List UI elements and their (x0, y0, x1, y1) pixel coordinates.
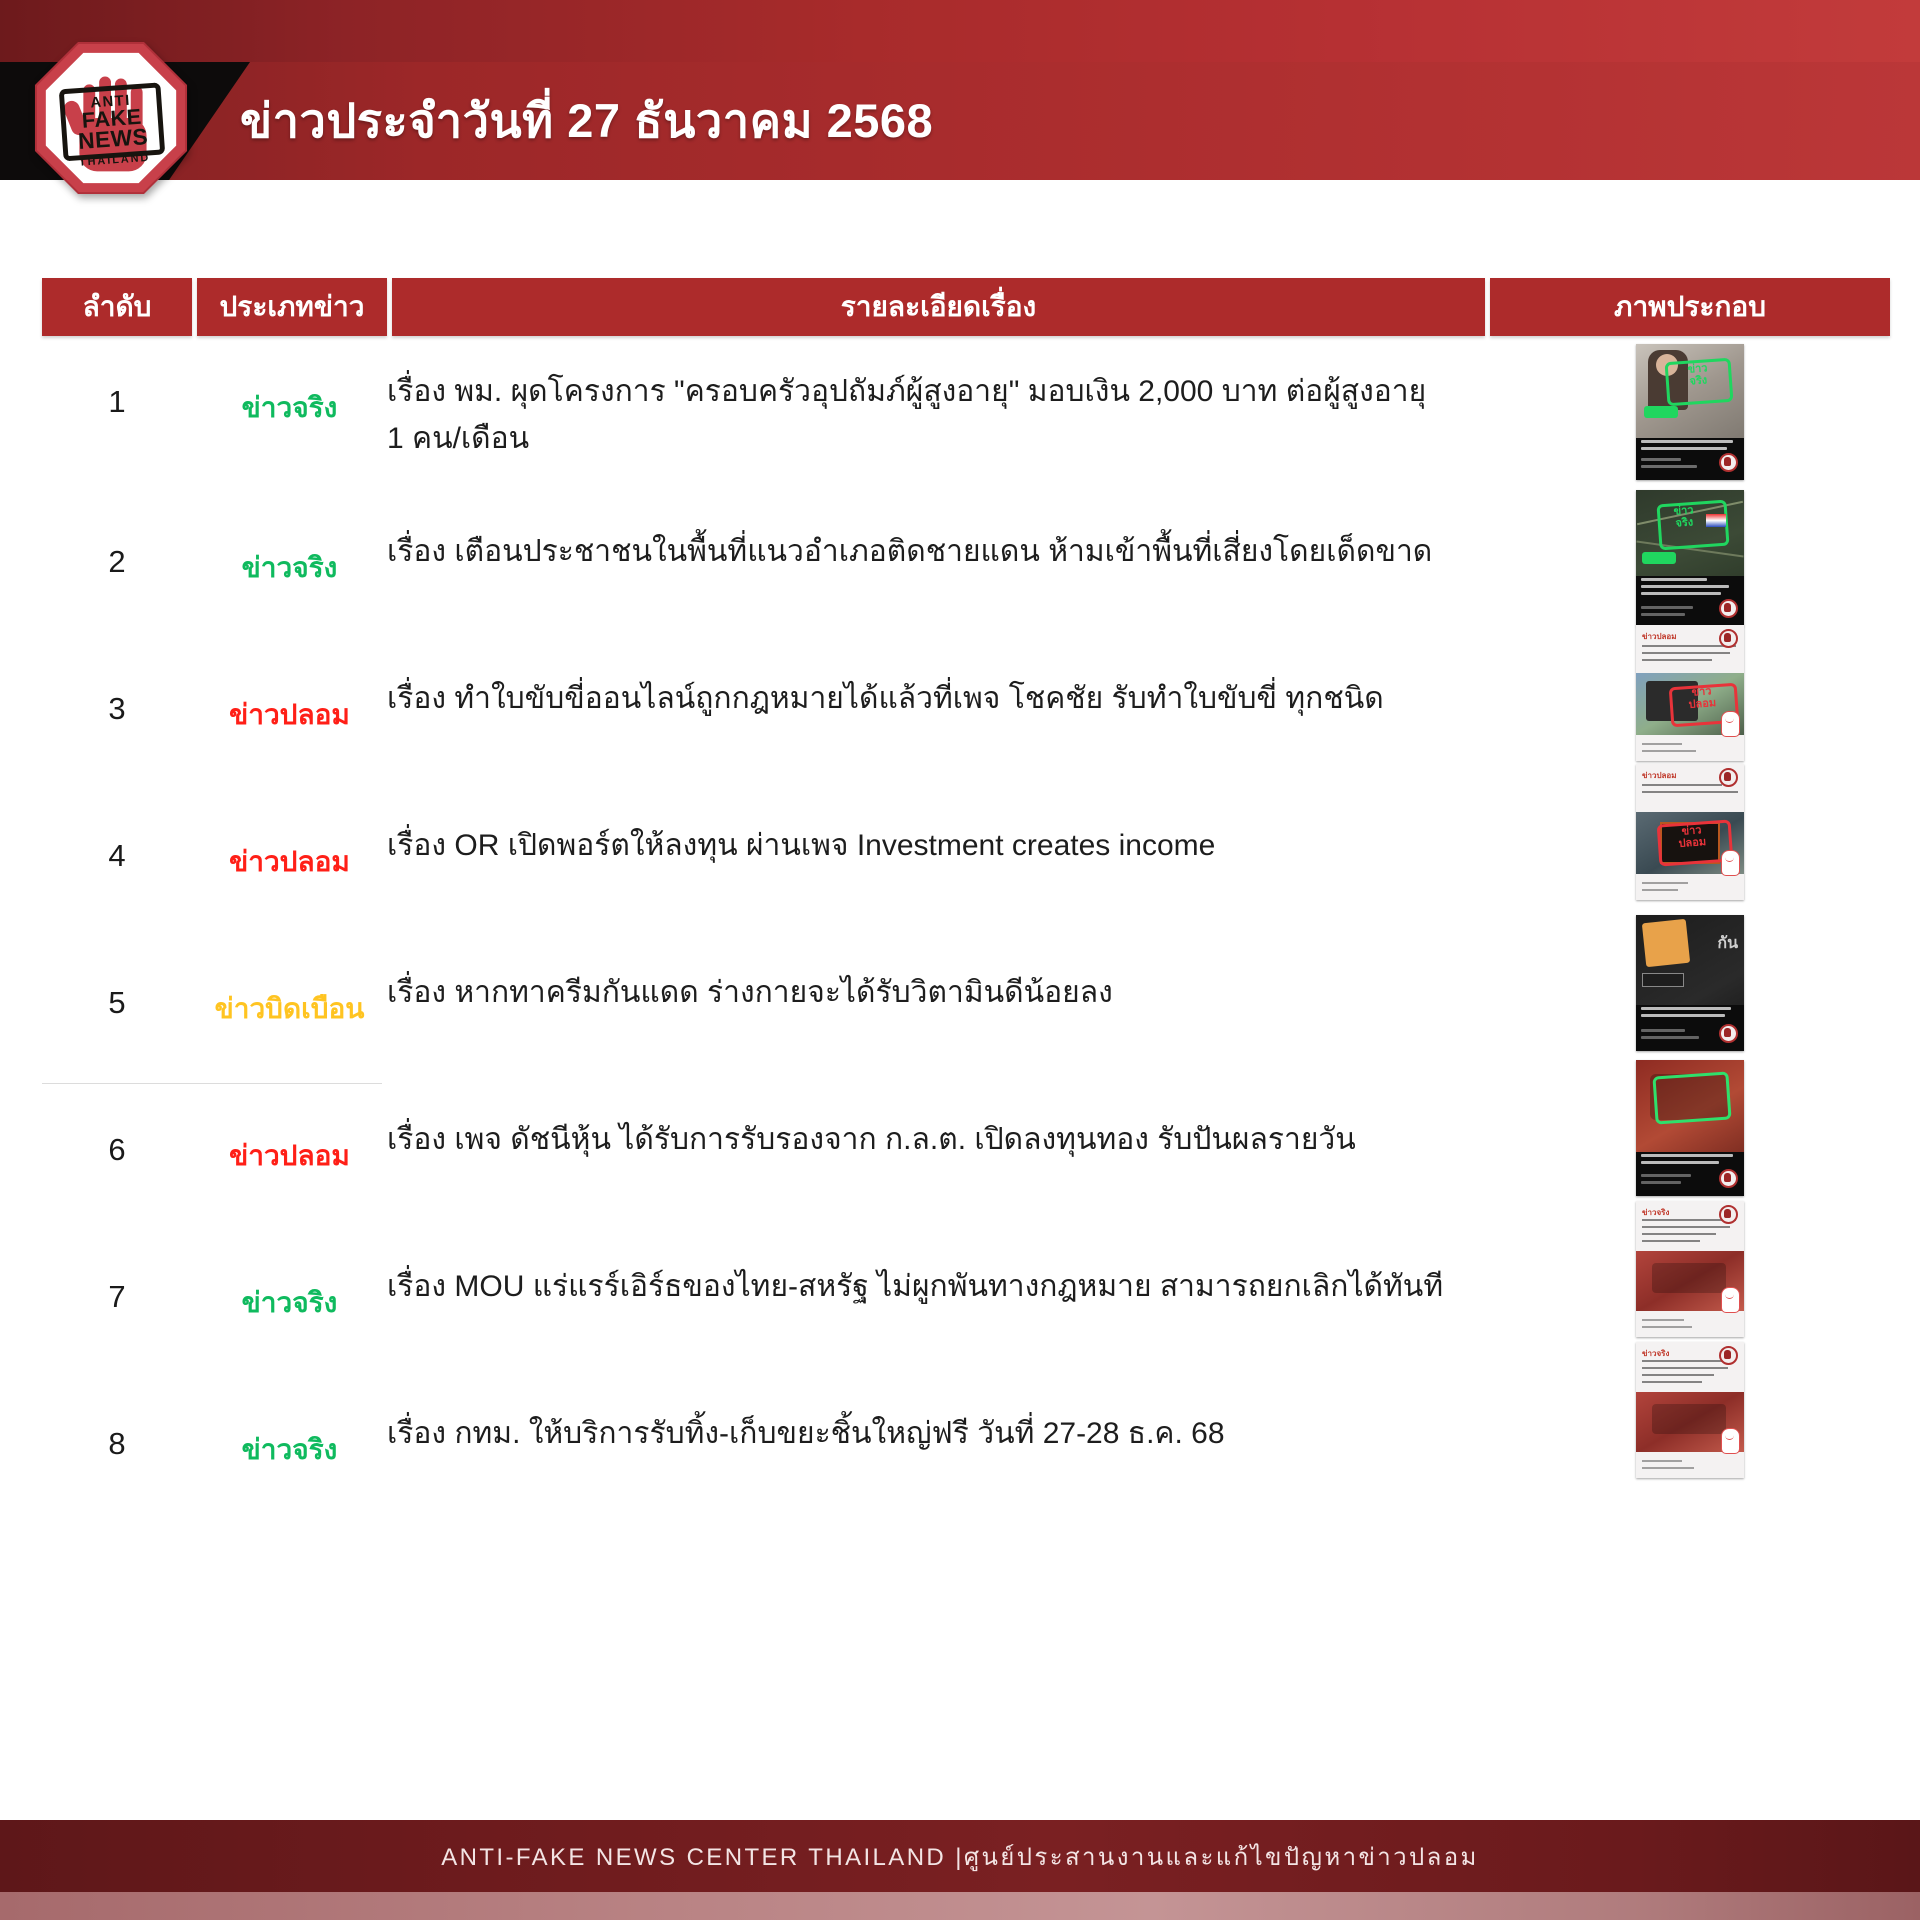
row-sequence: 7 (42, 1231, 192, 1315)
table-row[interactable]: 7 ข่าวจริง เรื่อง MOU แร่แรร์เอิร์ธของไท… (42, 1231, 1890, 1378)
row-news-type-badge: ข่าวบิดเบือน (192, 937, 387, 1031)
row-news-type-badge: ข่าวจริง (192, 1378, 387, 1472)
table-row[interactable]: 1 ข่าวจริง เรื่อง พม. ผุดโครงการ "ครอบคร… (42, 336, 1890, 496)
table-body: 1 ข่าวจริง เรื่อง พม. ผุดโครงการ "ครอบคร… (42, 336, 1890, 1525)
news-thumbnail-7[interactable]: ข่าวจริง (1636, 1201, 1744, 1337)
table-row[interactable]: 4 ข่าวปลอม เรื่อง OR เปิดพอร์ตให้ลงทุน ผ… (42, 790, 1890, 937)
header-top-strip (0, 0, 1920, 62)
row-sequence: 4 (42, 790, 192, 874)
table-row[interactable]: 3 ข่าวปลอม เรื่อง ทำใบขับขี่ออนไลน์ถูกกฎ… (42, 643, 1890, 790)
news-table: ลำดับ ประเภทข่าว รายละเอียดเรื่อง ภาพประ… (42, 278, 1890, 1525)
row-news-type-badge: ข่าวจริง (192, 496, 387, 590)
footer-text: ANTI-FAKE NEWS CENTER THAILAND |ศูนย์ประ… (441, 1837, 1479, 1876)
row-detail-text: เรื่อง OR เปิดพอร์ตให้ลงทุน ผ่านเพจ Inve… (387, 790, 1490, 869)
column-header-detail: รายละเอียดเรื่อง (392, 278, 1485, 336)
row-thumbnail-cell[interactable]: ข่าวจริง (1490, 336, 1890, 480)
row-detail-text: เรื่อง เตือนประชาชนในพื้นที่แนวอำเภอติดช… (387, 496, 1490, 575)
row-sequence: 3 (42, 643, 192, 727)
row-sequence: 2 (42, 496, 192, 580)
row-thumbnail-cell[interactable]: ข่าวปลอม ข่าวปลอม (1490, 643, 1890, 761)
row-thumbnail-cell[interactable]: ข่าวจริง (1490, 1231, 1890, 1337)
row-thumbnail-cell[interactable]: ข่าวจริง (1490, 1378, 1890, 1478)
row-detail-text: เรื่อง พม. ผุดโครงการ "ครอบครัวอุปถัมภ์ผ… (387, 336, 1490, 463)
svg-text:NEWS: NEWS (77, 123, 149, 154)
page-header: ANTI FAKE NEWS THAILAND ข่าวประจำวันที่ … (0, 0, 1920, 215)
footer-bar: ANTI-FAKE NEWS CENTER THAILAND |ศูนย์ประ… (0, 1820, 1920, 1892)
page-title: ข่าวประจำวันที่ 27 ธันวาคม 2568 (240, 62, 933, 180)
news-thumbnail-8[interactable]: ข่าวจริง (1636, 1342, 1744, 1478)
row-sequence: 5 (42, 937, 192, 1021)
table-row[interactable]: 6 ข่าวปลอม เรื่อง เพจ ดัชนีหุ้น ได้รับกา… (42, 1084, 1890, 1231)
table-row[interactable]: 5 ข่าวบิดเบือน เรื่อง หากทาครีมกันแดด ร่… (42, 937, 1890, 1084)
table-row[interactable]: 2 ข่าวจริง เรื่อง เตือนประชาชนในพื้นที่แ… (42, 496, 1890, 643)
news-thumbnail-3[interactable]: ข่าวปลอม ข่าวปลอม (1636, 625, 1744, 761)
row-thumbnail-cell[interactable]: กัน (1490, 937, 1890, 1051)
page-footer: ANTI-FAKE NEWS CENTER THAILAND |ศูนย์ประ… (0, 1820, 1920, 1920)
header-white-gap (0, 180, 1920, 215)
row-news-type-badge: ข่าวปลอม (192, 643, 387, 737)
row-sequence: 1 (42, 336, 192, 420)
row-detail-text: เรื่อง กทม. ให้บริการรับทิ้ง-เก็บขยะชิ้น… (387, 1378, 1490, 1457)
row-detail-text: เรื่อง MOU แร่แรร์เอิร์ธของไทย-สหรัฐ ไม่… (387, 1231, 1490, 1310)
news-thumbnail-2[interactable]: ข่าวจริง (1636, 490, 1744, 626)
news-thumbnail-4[interactable]: ข่าวปลอม ข่าวปลอม (1636, 764, 1744, 900)
news-thumbnail-1[interactable]: ข่าวจริง (1636, 344, 1744, 480)
column-header-sequence: ลำดับ (42, 278, 192, 336)
table-row[interactable]: 8 ข่าวจริง เรื่อง กทม. ให้บริการรับทิ้ง-… (42, 1378, 1890, 1525)
row-detail-text: เรื่อง ทำใบขับขี่ออนไลน์ถูกกฎหมายได้แล้ว… (387, 643, 1490, 722)
row-detail-text: เรื่อง หากทาครีมกันแดด ร่างกายจะได้รับวิ… (387, 937, 1490, 1016)
row-news-type-badge: ข่าวปลอม (192, 790, 387, 884)
row-news-type-badge: ข่าวปลอม (192, 1084, 387, 1178)
anti-fake-news-logo-icon: ANTI FAKE NEWS THAILAND (32, 38, 190, 198)
row-news-type-badge: ข่าวจริง (192, 336, 387, 430)
row-sequence: 8 (42, 1378, 192, 1462)
row-sequence: 6 (42, 1084, 192, 1168)
news-thumbnail-5[interactable]: กัน (1636, 915, 1744, 1051)
footer-bottom-strip (0, 1892, 1920, 1920)
row-thumbnail-cell[interactable]: ข่าวจริง (1490, 496, 1890, 626)
row-thumbnail-cell[interactable] (1490, 1084, 1890, 1196)
row-detail-text: เรื่อง เพจ ดัชนีหุ้น ได้รับการรับรองจาก … (387, 1084, 1490, 1163)
column-header-news-type: ประเภทข่าว (197, 278, 387, 336)
row-news-type-badge: ข่าวจริง (192, 1231, 387, 1325)
news-thumbnail-6[interactable] (1636, 1060, 1744, 1196)
column-header-image: ภาพประกอบ (1490, 278, 1890, 336)
table-header-row: ลำดับ ประเภทข่าว รายละเอียดเรื่อง ภาพประ… (42, 278, 1890, 336)
row-thumbnail-cell[interactable]: ข่าวปลอม ข่าวปลอม (1490, 790, 1890, 900)
